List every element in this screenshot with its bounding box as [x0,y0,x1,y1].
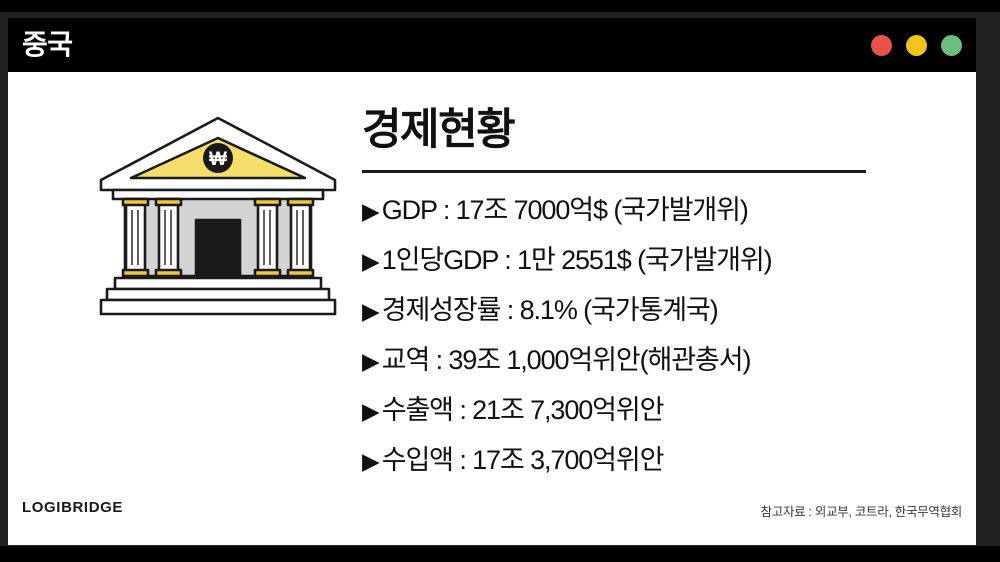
list-item: ▶ 1인당GDP : 1만 2551$ (국가발개위) [362,240,882,281]
list-item: ▶ 교역 : 39조 1,000억위안(해관총서) [362,340,882,381]
window-title: 중국 [22,27,73,63]
desktop-background: 중국 [0,0,1000,562]
list-item: ▶ 수출액 : 21조 7,300억위안 [362,390,882,431]
list-item-label: GDP : 17조 7000억$ (국가발개위) [382,190,748,230]
economy-info-panel: 경제현황 ▶ GDP : 17조 7000억$ (국가발개위) ▶ 1인당GDP… [362,102,882,490]
source-note: 참고자료 : 외교부, 코트라, 한국무역협회 [761,501,962,520]
close-button-icon[interactable] [871,35,892,56]
list-item-label: 경제성장률 : 8.1% (국가통계국) [382,290,718,330]
minimize-button-icon[interactable] [906,35,927,56]
section-title: 경제현황 [362,102,882,158]
list-item-label: 1인당GDP : 1만 2551$ (국가발개위) [382,240,772,280]
list-item: ▶ 경제성장률 : 8.1% (국가통계국) [362,290,882,331]
window-content: ₩ 경제현황 ▶ GDP : 17조 7000억$ (국가발개위) ▶ 1인당G… [8,72,976,545]
bullet-triangle-icon: ▶ [362,191,380,231]
title-divider [362,170,866,173]
bullet-triangle-icon: ▶ [362,391,380,431]
bullet-triangle-icon: ▶ [362,341,380,381]
won-symbol: ₩ [209,149,227,170]
brand-logo: LOGIBRIDGE [22,499,123,516]
list-item: ▶ GDP : 17조 7000억$ (국가발개위) [362,190,882,231]
list-item-label: 수출액 : 21조 7,300억위안 [382,390,664,430]
list-item-label: 교역 : 39조 1,000억위안(해관총서) [382,340,751,380]
bank-building-icon: ₩ [93,112,343,327]
bullet-triangle-icon: ▶ [362,241,380,281]
window-titlebar[interactable]: 중국 [8,18,976,72]
bullet-triangle-icon: ▶ [362,441,380,481]
window-controls [871,18,962,72]
economy-fact-list: ▶ GDP : 17조 7000억$ (국가발개위) ▶ 1인당GDP : 1만… [362,190,882,481]
app-window: 중국 [8,18,976,545]
list-item-label: 수입액 : 17조 3,700억위안 [382,440,664,480]
bullet-triangle-icon: ▶ [362,291,380,331]
footer: LOGIBRIDGE 참고자료 : 외교부, 코트라, 한국무역협회 [8,491,976,545]
maximize-button-icon[interactable] [941,35,962,56]
list-item: ▶ 수입액 : 17조 3,700억위안 [362,440,882,481]
